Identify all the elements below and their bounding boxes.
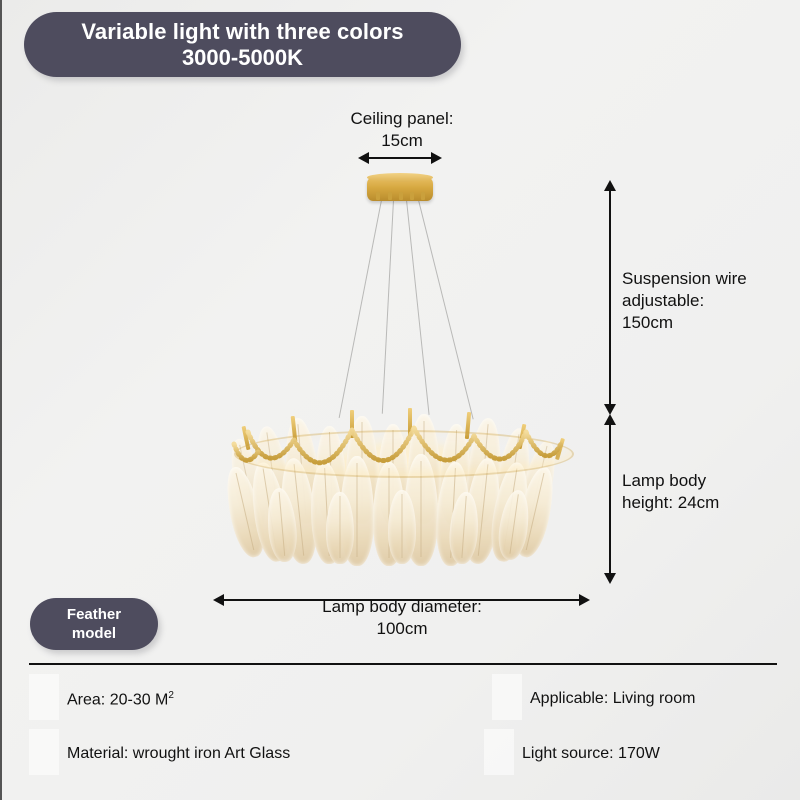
spec-applicable-text: Applicable: Living room — [530, 690, 695, 707]
glass-feather — [340, 456, 374, 566]
gold-post — [465, 412, 471, 439]
gold-post — [555, 438, 565, 460]
glass-feather — [495, 488, 532, 561]
gold-rim-ring — [234, 430, 574, 478]
canopy-screw — [376, 192, 380, 200]
lamp-body-height-line-2: height: 24cm — [622, 492, 792, 514]
glass-feather — [404, 454, 438, 566]
ceiling-canopy — [367, 177, 433, 201]
suspension-dimension-arrow — [609, 190, 611, 405]
swag-chain — [294, 430, 352, 463]
lamp-body-height-line-1: Lamp body — [622, 470, 792, 492]
glass-feather — [388, 490, 416, 564]
gold-post — [518, 424, 527, 449]
glass-feather — [277, 457, 321, 566]
title-badge: Variable light with three colors 3000-50… — [24, 12, 461, 77]
glass-feather — [434, 461, 471, 567]
lamp-body-diameter-label: Lamp body diameter: 100cm — [242, 596, 562, 640]
spec-area-text: Area: 20-30 M — [67, 691, 168, 708]
spec-light-source-text: Light source: 170W — [522, 745, 660, 762]
glass-feather — [373, 462, 405, 566]
lamp-body — [228, 404, 578, 579]
light-glow — [258, 442, 548, 520]
spec-applicable: Applicable: Living room — [530, 690, 695, 708]
swag-chain — [234, 444, 258, 460]
canopy-screw — [421, 192, 425, 200]
suspension-wire — [339, 200, 382, 418]
gold-post — [350, 410, 354, 438]
glass-feather — [408, 414, 440, 524]
suspension-label-line-2: adjustable: — [622, 290, 792, 312]
gold-post — [291, 416, 298, 442]
glass-feather — [265, 487, 299, 563]
spec-divider — [29, 663, 777, 665]
swag-chain — [414, 428, 474, 460]
suspension-label-line-1: Suspension wire — [622, 268, 792, 290]
swag-chain — [352, 428, 414, 461]
canopy-screw — [410, 192, 414, 200]
glass-feather — [448, 491, 481, 565]
canopy-screw — [399, 192, 403, 200]
swag-chain — [526, 432, 562, 456]
spec-material-text: Material: wrought iron Art Glass — [67, 745, 290, 762]
swag-chain — [248, 432, 294, 458]
glass-feather — [246, 460, 293, 564]
title-line-2: 3000-5000K — [182, 45, 303, 71]
glass-feather — [251, 424, 295, 527]
glass-feather — [308, 461, 345, 565]
gold-post — [242, 426, 251, 450]
glass-feather — [314, 426, 347, 527]
glass-feather — [326, 492, 354, 564]
light-glow — [323, 432, 483, 504]
spec-swatch — [484, 729, 514, 775]
ceiling-panel-label-line-2: 15cm — [302, 130, 502, 152]
glass-feather — [281, 417, 322, 525]
model-badge: Feather model — [30, 598, 158, 650]
swag-chain — [474, 432, 526, 459]
suspension-wire — [418, 200, 474, 420]
suspension-wire — [406, 200, 430, 415]
glass-feather — [438, 424, 472, 527]
canopy-screw — [388, 192, 392, 200]
glass-feather — [486, 460, 533, 564]
ceiling-panel-label-line-1: Ceiling panel: — [302, 108, 502, 130]
ceiling-panel-dimension-arrow — [368, 157, 432, 159]
glass-feather — [461, 457, 505, 566]
gold-post — [408, 408, 412, 436]
suspension-label-line-3: 150cm — [622, 312, 792, 334]
spec-swatch — [29, 674, 59, 720]
glass-feather — [510, 464, 560, 560]
spec-swatch — [29, 729, 59, 775]
ceiling-panel-label: Ceiling panel: 15cm — [302, 108, 502, 152]
glass-feather — [463, 417, 504, 525]
canopy-top-plate — [367, 173, 433, 182]
lamp-body-height-dimension-arrow — [609, 424, 611, 574]
spec-swatch — [492, 674, 522, 720]
spec-light-source: Light source: 170W — [522, 745, 660, 763]
spec-area-superscript: 2 — [168, 690, 174, 701]
suspension-wire — [382, 200, 394, 414]
glass-feather — [514, 438, 562, 532]
spec-material: Material: wrought iron Art Glass — [67, 745, 290, 763]
lamp-body-height-label: Lamp body height: 24cm — [622, 470, 792, 514]
infographic-canvas: Variable light with three colors 3000-50… — [0, 0, 800, 800]
diameter-label-line-2: 100cm — [242, 618, 562, 640]
glass-feather — [491, 426, 534, 527]
model-badge-line-1: Feather — [67, 605, 121, 624]
title-line-1: Variable light with three colors — [81, 19, 403, 45]
glass-feather — [346, 416, 378, 524]
spec-area: Area: 20-30 M2 — [67, 690, 174, 709]
diameter-label-line-1: Lamp body diameter: — [242, 596, 562, 618]
glass-feather — [225, 436, 272, 532]
model-badge-line-2: model — [72, 624, 116, 643]
suspension-wire-label: Suspension wire adjustable: 150cm — [622, 268, 792, 334]
glass-feather — [378, 424, 408, 526]
glass-feather — [220, 464, 270, 560]
